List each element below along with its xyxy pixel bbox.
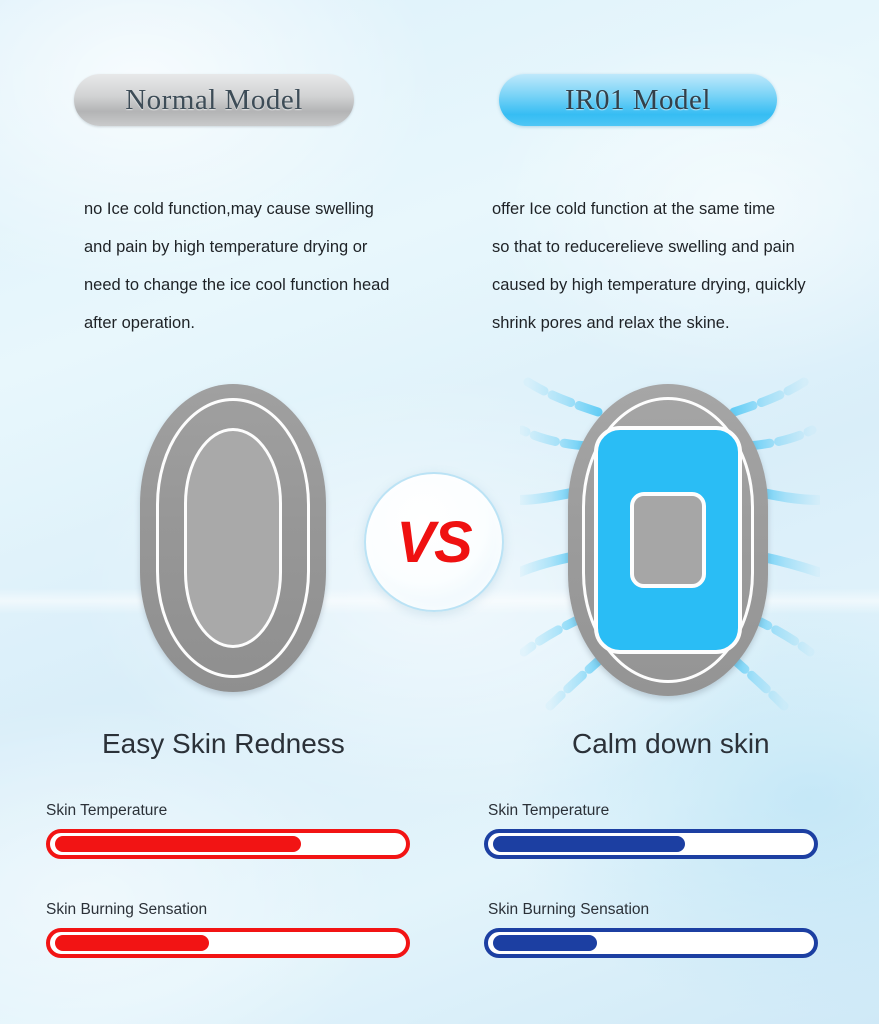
metric-bar-fill xyxy=(55,836,301,852)
metric-normal-skin-burning-sensation: Skin Burning Sensation xyxy=(46,901,410,958)
description-line: offer Ice cold function at the same time xyxy=(492,190,837,228)
device-inner-panel xyxy=(630,492,706,588)
description-line: no Ice cold function,may cause swelling xyxy=(84,190,429,228)
metric-bar-track xyxy=(484,928,818,958)
description-normal-model: no Ice cold function,may cause swelling … xyxy=(84,190,429,342)
description-line: shrink pores and relax the skine. xyxy=(492,304,837,342)
description-ir01-model: offer Ice cold function at the same time… xyxy=(492,190,837,342)
description-line: and pain by high temperature drying or xyxy=(84,228,429,266)
badge-ir01-model: IR01 Model xyxy=(499,74,777,126)
description-line: need to change the ice cool function hea… xyxy=(84,266,429,304)
description-line: so that to reducerelieve swelling and pa… xyxy=(492,228,837,266)
caption-normal-model: Easy Skin Redness xyxy=(102,728,345,760)
metric-ir01-skin-temperature: Skin Temperature xyxy=(484,802,818,859)
metric-bar-track xyxy=(484,829,818,859)
description-line: after operation. xyxy=(84,304,429,342)
metric-bar-track xyxy=(46,928,410,958)
metric-label: Skin Burning Sensation xyxy=(488,901,818,919)
device-normal-model-illustration xyxy=(140,384,326,692)
metric-label: Skin Temperature xyxy=(488,802,818,820)
versus-badge: VS xyxy=(364,472,504,612)
metric-bar-fill xyxy=(493,836,685,852)
metric-ir01-skin-burning-sensation: Skin Burning Sensation xyxy=(484,901,818,958)
metric-normal-skin-temperature: Skin Temperature xyxy=(46,802,410,859)
badge-normal-model: Normal Model xyxy=(74,74,354,126)
comparison-infographic: Normal Model IR01 Model no Ice cold func… xyxy=(0,0,879,1024)
versus-label: VS xyxy=(396,509,471,576)
badge-ir01-model-label: IR01 Model xyxy=(565,84,711,117)
device-inner-panel xyxy=(184,428,282,648)
metric-bar-track xyxy=(46,829,410,859)
badge-normal-model-label: Normal Model xyxy=(125,84,303,117)
caption-ir01-model: Calm down skin xyxy=(572,728,770,760)
metric-bar-fill xyxy=(55,935,209,951)
metric-label: Skin Burning Sensation xyxy=(46,901,410,919)
device-ir01-model-illustration xyxy=(568,384,768,696)
description-line: caused by high temperature drying, quick… xyxy=(492,266,837,304)
metric-label: Skin Temperature xyxy=(46,802,410,820)
metric-bar-fill xyxy=(493,935,597,951)
